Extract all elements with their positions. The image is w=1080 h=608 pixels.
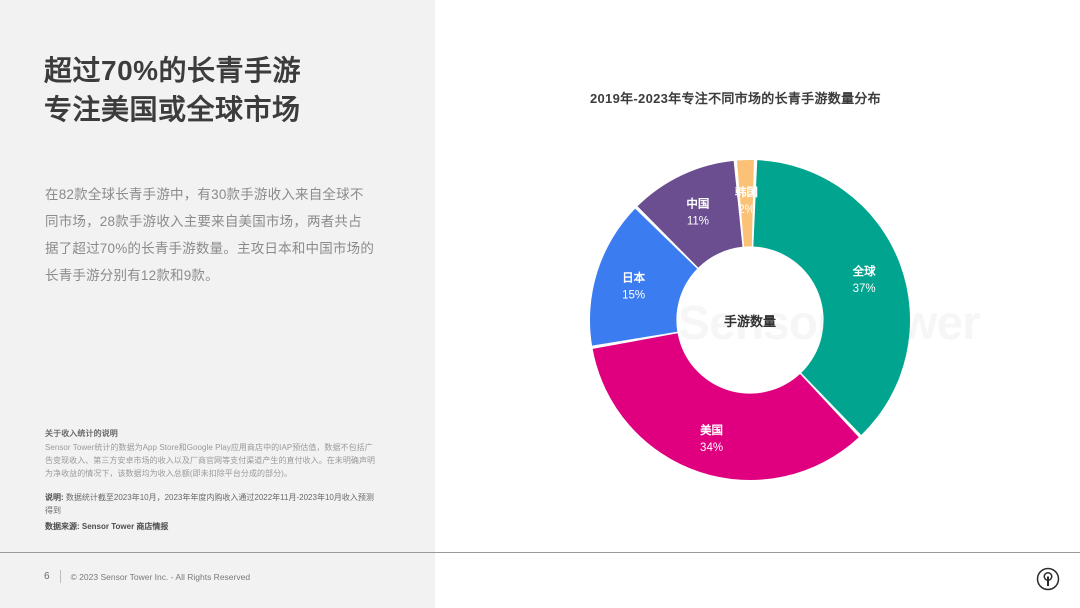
note-explanation-label: 说明: xyxy=(45,493,64,502)
donut-slice-label-全球: 全球 xyxy=(852,264,876,278)
note-title: 关于收入统计的说明 xyxy=(45,428,377,439)
footer: 6 © 2023 Sensor Tower Inc. - All Rights … xyxy=(44,570,250,583)
footer-separator xyxy=(60,570,61,583)
note-body: Sensor Tower统计的数据为App Store和Google Play应… xyxy=(45,442,377,481)
copyright-text: © 2023 Sensor Tower Inc. - All Rights Re… xyxy=(71,572,251,582)
donut-slice-value-美国: 34% xyxy=(700,442,723,454)
headline-line-2: 专注美国或全球市场 xyxy=(44,91,404,130)
left-text-panel: 超过70%的长青手游 专注美国或全球市场 在82款全球长青手游中，有30款手游收… xyxy=(0,0,435,608)
note-explanation: 说明: 数据统计截至2023年10月，2023年年度内购收入通过2022年11月… xyxy=(45,492,377,518)
note-spacer xyxy=(45,481,377,492)
donut-slice-label-日本: 日本 xyxy=(622,270,645,284)
footer-divider xyxy=(0,552,1080,553)
donut-slice-label-中国: 中国 xyxy=(686,197,709,211)
headline-line-1: 超过70%的长青手游 xyxy=(44,52,404,91)
donut-slice-value-中国: 11% xyxy=(687,216,709,228)
body-paragraph: 在82款全球长青手游中，有30款手游收入来自全球不同市场，28款手游收入主要来自… xyxy=(45,181,375,289)
footnotes-block: 关于收入统计的说明 Sensor Tower统计的数据为App Store和Go… xyxy=(45,428,377,532)
donut-slice-value-韩国: 2% xyxy=(738,204,755,216)
donut-chart-svg: 全球37%美国34%日本15%中国11%韩国2% xyxy=(585,155,915,485)
slide-canvas: 超过70%的长青手游 专注美国或全球市场 在82款全球长青手游中，有30款手游收… xyxy=(0,0,1080,608)
donut-slice-label-美国: 美国 xyxy=(700,423,723,437)
chart-title: 2019年-2023年专注不同市场的长青手游数量分布 xyxy=(590,88,881,107)
donut-slice-value-全球: 37% xyxy=(853,283,876,295)
sensor-tower-logo-icon xyxy=(1032,563,1064,595)
page-title: 超过70%的长青手游 专注美国或全球市场 xyxy=(44,52,404,129)
donut-slice-label-韩国: 韩国 xyxy=(735,185,758,199)
page-number: 6 xyxy=(44,571,50,582)
note-explanation-text: 数据统计截至2023年10月，2023年年度内购收入通过2022年11月-202… xyxy=(45,493,374,515)
donut-chart: 全球37%美国34%日本15%中国11%韩国2% xyxy=(585,155,915,485)
note-source: 数据来源: Sensor Tower 商店情报 xyxy=(45,521,377,532)
donut-slice-value-日本: 15% xyxy=(622,289,645,301)
